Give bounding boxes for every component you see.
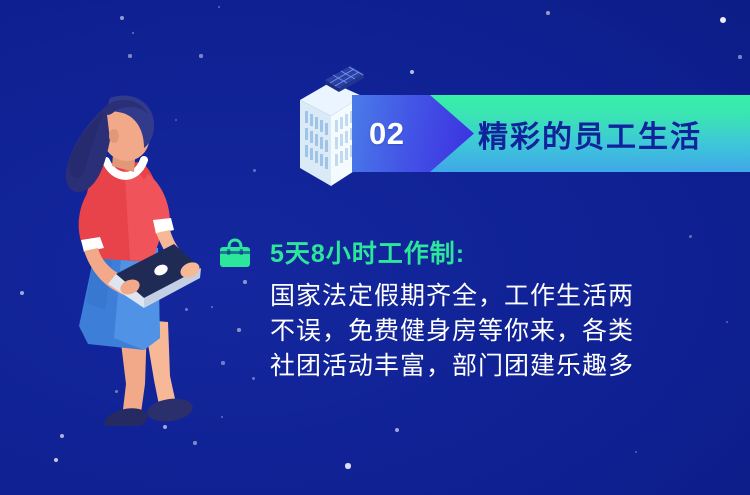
star-dot bbox=[54, 458, 59, 463]
star-dot bbox=[20, 291, 24, 295]
star-dot bbox=[193, 441, 196, 444]
slide-canvas: 02 精彩的员工生活 5天8小时工作制: 国家法定假期齐全，工作生活两 不误，免… bbox=[0, 0, 750, 495]
section-title: 精彩的员工生活 bbox=[478, 95, 702, 172]
content-block: 5天8小时工作制: 国家法定假期齐全，工作生活两 不误，免费健身房等你来，各类 … bbox=[218, 238, 738, 384]
section-number: 02 bbox=[369, 118, 404, 149]
body-line: 不误，免费健身房等你来，各类 bbox=[270, 314, 738, 349]
star-dot bbox=[120, 16, 124, 20]
star-dot bbox=[395, 428, 399, 432]
body-paragraph: 国家法定假期齐全，工作生活两 不误，免费健身房等你来，各类 社团活动丰富，部门团… bbox=[270, 279, 738, 384]
lead-heading-row: 5天8小时工作制: bbox=[218, 238, 738, 270]
star-dot bbox=[410, 70, 414, 74]
star-dot bbox=[253, 169, 256, 172]
star-dot bbox=[199, 54, 202, 57]
star-dot bbox=[546, 11, 550, 15]
star-dot bbox=[221, 416, 224, 419]
star-dot bbox=[720, 17, 727, 24]
star-dot bbox=[345, 463, 350, 468]
star-dot bbox=[60, 434, 64, 438]
star-dot bbox=[128, 54, 131, 57]
briefcase-icon bbox=[218, 238, 252, 270]
body-line: 国家法定假期齐全，工作生活两 bbox=[270, 279, 738, 314]
body-line: 社团活动丰富，部门团建乐趣多 bbox=[270, 349, 738, 384]
lead-heading-text: 5天8小时工作制: bbox=[270, 242, 465, 267]
star-dot bbox=[738, 55, 741, 58]
star-dot bbox=[132, 32, 135, 35]
star-dot bbox=[635, 451, 638, 454]
star-dot bbox=[218, 6, 221, 9]
woman-with-laptop-illustration bbox=[48, 88, 220, 426]
